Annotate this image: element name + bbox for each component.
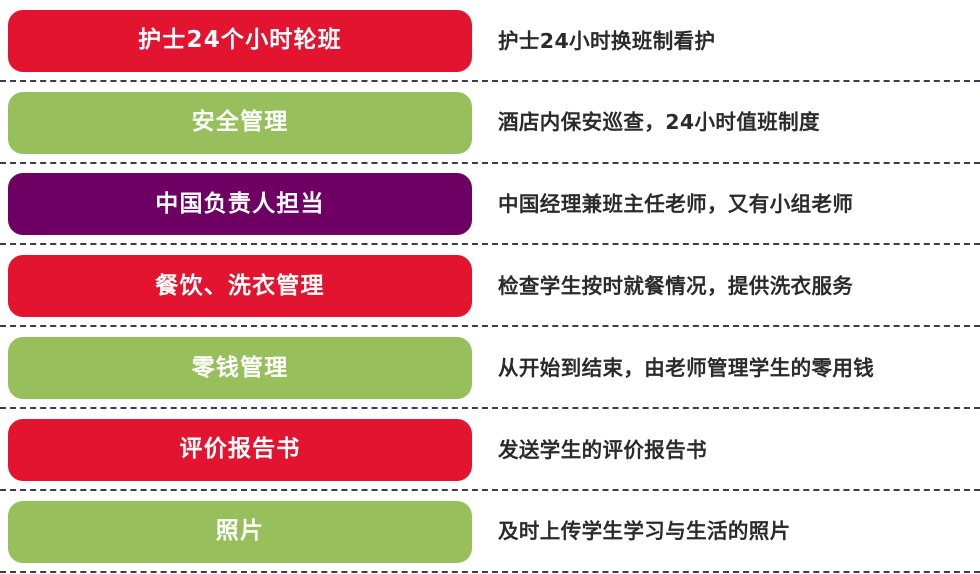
feature-description: 检查学生按时就餐情况，提供洗衣服务 — [498, 274, 853, 299]
feature-description: 及时上传学生学习与生活的照片 — [498, 519, 791, 544]
feature-description: 护士24小时换班制看护 — [498, 29, 715, 54]
feature-title: 中国负责人担当 — [155, 193, 324, 216]
feature-title: 评价报告书 — [180, 438, 301, 461]
feature-title: 安全管理 — [192, 111, 289, 134]
feature-row: 中国负责人担当 中国经理兼班主任老师，又有小组老师 — [0, 164, 980, 246]
feature-row: 评价报告书 发送学生的评价报告书 — [0, 409, 980, 491]
feature-pill[interactable]: 安全管理 — [8, 92, 472, 154]
feature-description: 发送学生的评价报告书 — [498, 438, 707, 463]
feature-row: 护士24个小时轮班 护士24小时换班制看护 — [0, 0, 980, 82]
feature-description: 从开始到结束，由老师管理学生的零用钱 — [498, 356, 874, 381]
feature-pill[interactable]: 餐饮、洗衣管理 — [8, 255, 472, 317]
feature-pill[interactable]: 照片 — [8, 501, 472, 563]
feature-row: 安全管理 酒店内保安巡查，24小时值班制度 — [0, 82, 980, 164]
feature-row: 照片 及时上传学生学习与生活的照片 — [0, 491, 980, 573]
feature-row: 餐饮、洗衣管理 检查学生按时就餐情况，提供洗衣服务 — [0, 245, 980, 327]
feature-title: 餐饮、洗衣管理 — [155, 275, 324, 298]
feature-list: 护士24个小时轮班 护士24小时换班制看护 安全管理 酒店内保安巡查，24小时值… — [0, 0, 980, 574]
feature-pill[interactable]: 中国负责人担当 — [8, 173, 472, 235]
feature-description: 酒店内保安巡查，24小时值班制度 — [498, 110, 820, 135]
feature-row: 零钱管理 从开始到结束，由老师管理学生的零用钱 — [0, 327, 980, 409]
feature-pill[interactable]: 护士24个小时轮班 — [8, 10, 472, 72]
feature-title: 照片 — [216, 520, 264, 543]
feature-pill[interactable]: 零钱管理 — [8, 337, 472, 399]
feature-pill[interactable]: 评价报告书 — [8, 419, 472, 481]
feature-title: 零钱管理 — [192, 357, 289, 380]
feature-title: 护士24个小时轮班 — [138, 29, 342, 52]
feature-description: 中国经理兼班主任老师，又有小组老师 — [498, 192, 853, 217]
